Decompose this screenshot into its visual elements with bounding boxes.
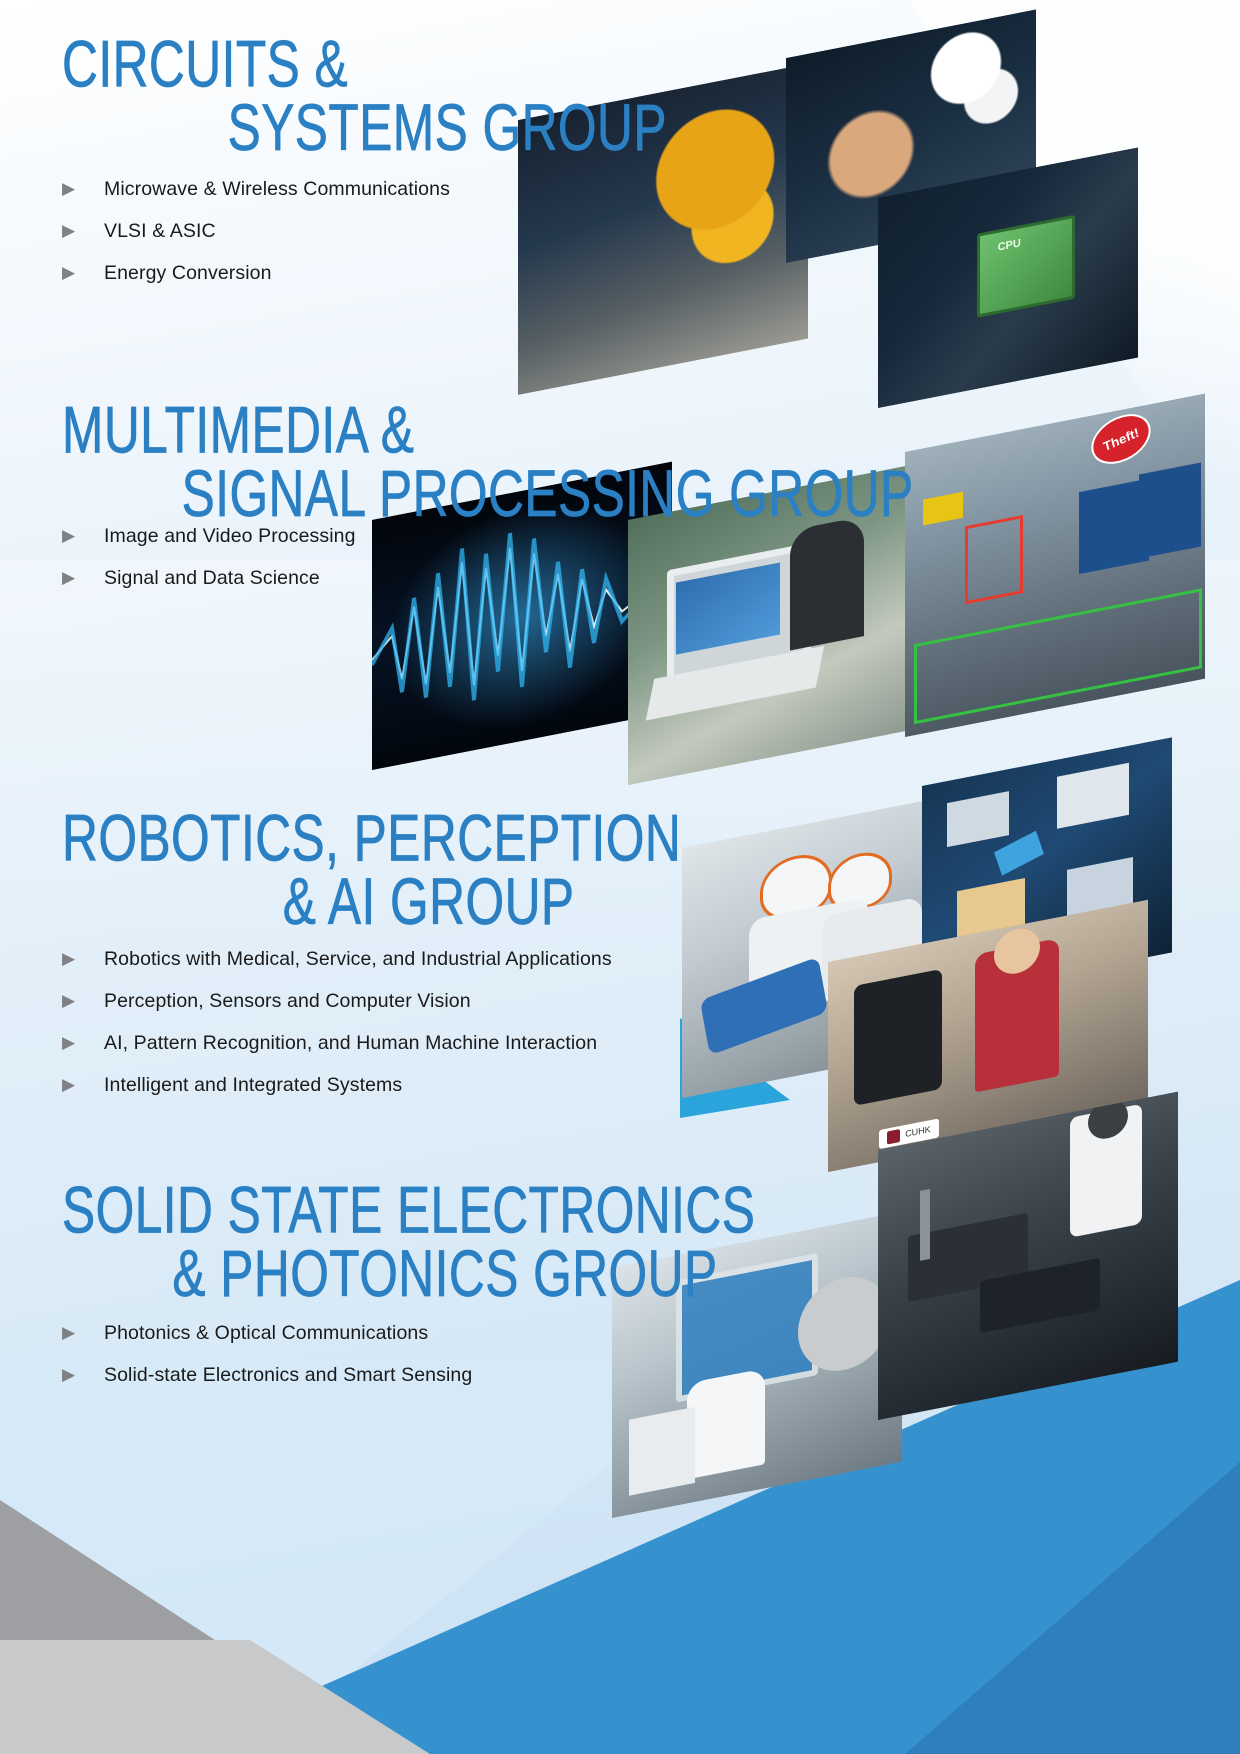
bullet-label: Robotics with Medical, Service, and Indu…	[104, 948, 612, 971]
bullet-label: Image and Video Processing	[104, 525, 356, 548]
bullet-item: ▶ Intelligent and Integrated Systems	[62, 1074, 612, 1097]
bullet-label: VLSI & ASIC	[104, 220, 216, 243]
triangle-bullet-icon: ▶	[62, 1034, 84, 1051]
heading-line-1: MULTIMEDIA &	[62, 400, 914, 463]
triangle-bullet-icon: ▶	[62, 950, 84, 967]
cuhk-logo-text: CUHK	[905, 1125, 931, 1139]
poster-canvas: CPU CIRCUITS & SYSTEMS GROUP ▶ Microwave…	[0, 0, 1240, 1754]
bullet-list-robotics: ▶ Robotics with Medical, Service, and In…	[62, 948, 612, 1116]
bullet-label: Perception, Sensors and Computer Vision	[104, 990, 471, 1013]
bullet-item: ▶ Signal and Data Science	[62, 567, 356, 590]
bullet-label: Intelligent and Integrated Systems	[104, 1074, 402, 1097]
triangle-bullet-icon: ▶	[62, 264, 84, 281]
bullet-list-solid-state: ▶ Photonics & Optical Communications ▶ S…	[62, 1322, 472, 1406]
heading-line-2: SYSTEMS GROUP	[228, 97, 667, 160]
triangle-bullet-icon: ▶	[62, 1324, 84, 1341]
cuhk-logo-mark-icon	[887, 1129, 900, 1145]
section-heading-circuits: CIRCUITS & SYSTEMS GROUP	[62, 34, 667, 160]
bullet-item: ▶ Perception, Sensors and Computer Visio…	[62, 990, 612, 1013]
theft-alert-badge: Theft!	[1086, 405, 1155, 473]
heading-line-2: & AI GROUP	[283, 871, 681, 934]
bullet-item: ▶ Robotics with Medical, Service, and In…	[62, 948, 612, 971]
section-heading-multimedia: MULTIMEDIA & SIGNAL PROCESSING GROUP	[62, 400, 914, 526]
bullet-item: ▶ Image and Video Processing	[62, 525, 356, 548]
bullet-label: Photonics & Optical Communications	[104, 1322, 428, 1345]
triangle-bullet-icon: ▶	[62, 1366, 84, 1383]
triangle-bullet-icon: ▶	[62, 222, 84, 239]
triangle-bullet-icon: ▶	[62, 180, 84, 197]
triangle-bullet-icon: ▶	[62, 992, 84, 1009]
triangle-bullet-icon: ▶	[62, 1076, 84, 1093]
bullet-label: Energy Conversion	[104, 262, 272, 285]
bullet-label: Microwave & Wireless Communications	[104, 178, 450, 201]
heading-line-1: ROBOTICS, PERCEPTION	[62, 808, 681, 871]
bullet-label: Solid-state Electronics and Smart Sensin…	[104, 1364, 472, 1387]
bullet-item: ▶ Photonics & Optical Communications	[62, 1322, 472, 1345]
bullet-item: ▶ VLSI & ASIC	[62, 220, 450, 243]
bullet-list-circuits: ▶ Microwave & Wireless Communications ▶ …	[62, 178, 450, 304]
heading-line-2: & PHOTONICS GROUP	[172, 1243, 755, 1306]
triangle-bullet-icon: ▶	[62, 527, 84, 544]
triangle-bullet-icon: ▶	[62, 569, 84, 586]
photo-video-surveillance-tracking: Theft!	[905, 394, 1205, 737]
section-heading-solid-state: SOLID STATE ELECTRONICS & PHOTONICS GROU…	[62, 1180, 755, 1306]
bullet-label: Signal and Data Science	[104, 567, 320, 590]
bullet-item: ▶ AI, Pattern Recognition, and Human Mac…	[62, 1032, 612, 1055]
bullet-item: ▶ Microwave & Wireless Communications	[62, 178, 450, 201]
heading-line-1: CIRCUITS &	[62, 34, 667, 97]
section-heading-robotics: ROBOTICS, PERCEPTION & AI GROUP	[62, 808, 681, 934]
heading-line-1: SOLID STATE ELECTRONICS	[62, 1180, 755, 1243]
bullet-list-multimedia: ▶ Image and Video Processing ▶ Signal an…	[62, 525, 356, 609]
bullet-label: AI, Pattern Recognition, and Human Machi…	[104, 1032, 597, 1055]
bullet-item: ▶ Solid-state Electronics and Smart Sens…	[62, 1364, 472, 1387]
bullet-item: ▶ Energy Conversion	[62, 262, 450, 285]
heading-line-2: SIGNAL PROCESSING GROUP	[182, 463, 914, 526]
